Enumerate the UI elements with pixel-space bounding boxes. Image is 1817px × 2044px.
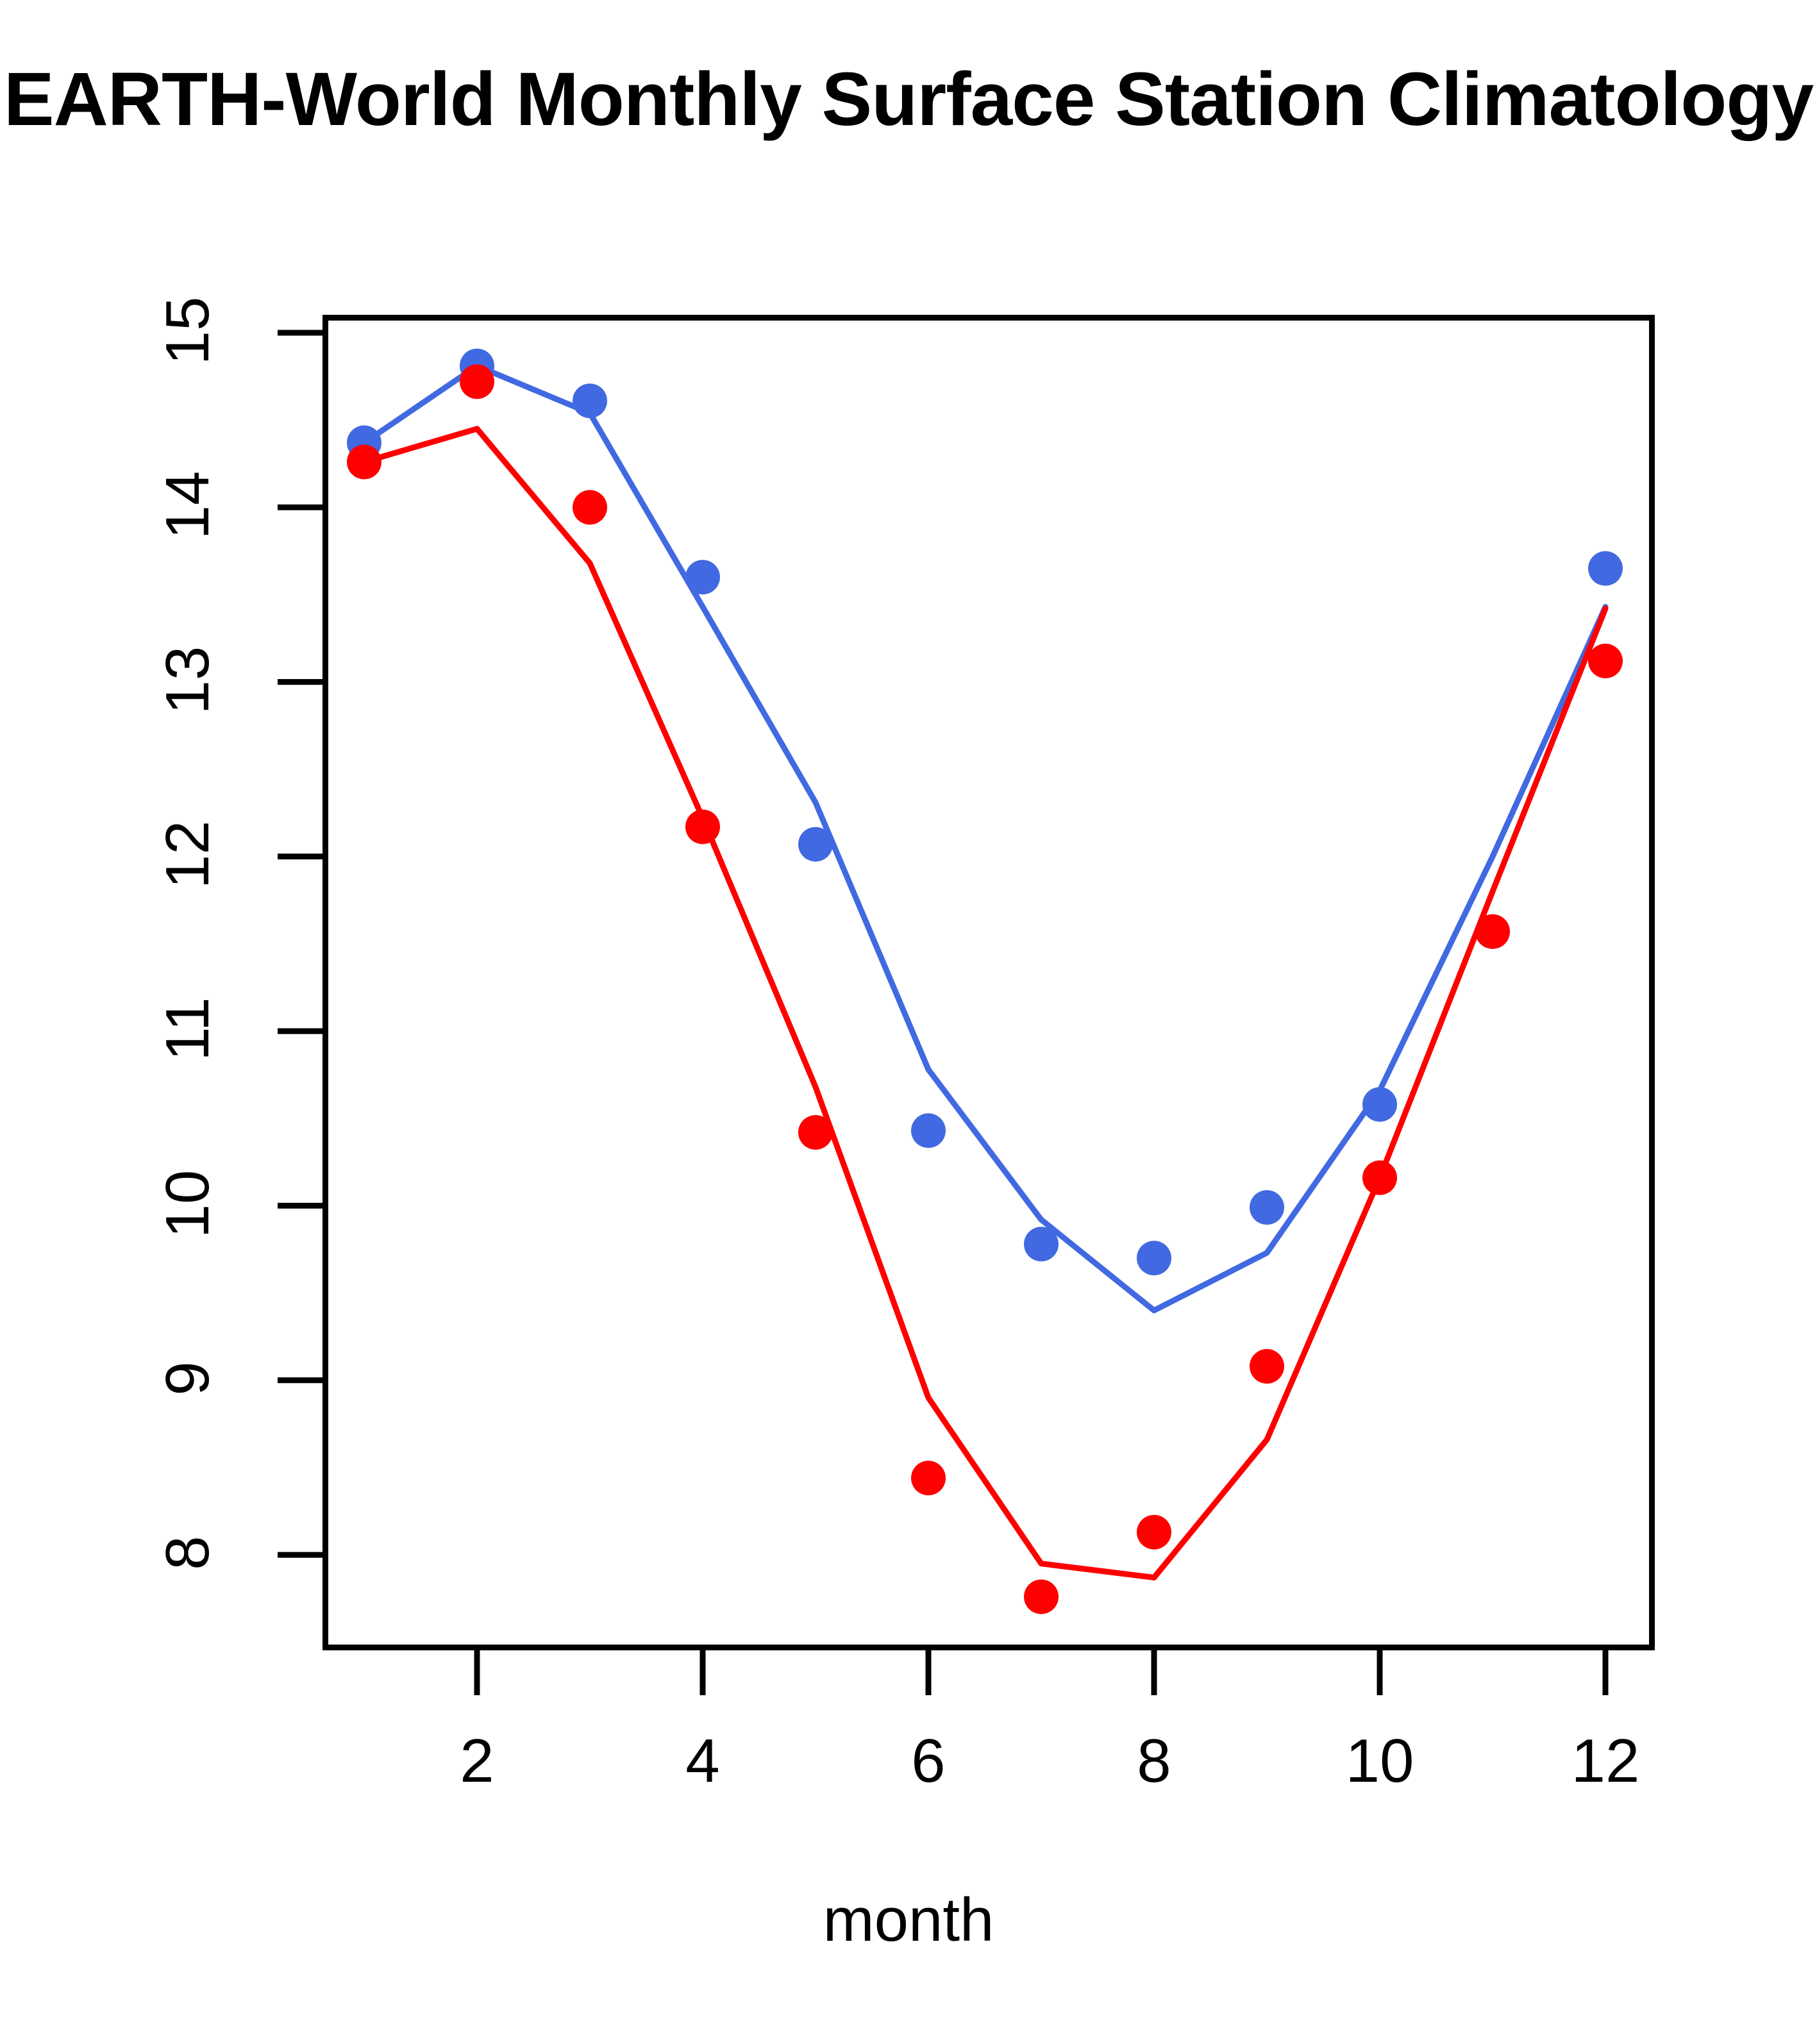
y-axis-ticks (278, 333, 322, 1555)
x-axis-title: month (0, 1885, 1817, 1956)
x-tick-label: 6 (845, 1726, 1012, 1797)
x-axis-ticks (477, 1650, 1605, 1695)
x-tick-label: 12 (1522, 1726, 1689, 1797)
y-tick-label: 12 (153, 784, 223, 925)
x-tick-label: 4 (619, 1726, 786, 1797)
x-tick-label: 10 (1296, 1726, 1463, 1797)
x-tick-label: 2 (394, 1726, 560, 1797)
y-tick-label: 9 (153, 1308, 223, 1449)
y-tick-label: 10 (153, 1134, 223, 1275)
y-tick-label: 13 (153, 610, 223, 751)
y-tick-label: 8 (153, 1482, 223, 1623)
chart-title: EARTH-World Monthly Surface Station Clim… (0, 62, 1817, 137)
y-tick-label: 11 (153, 959, 223, 1100)
y-tick-label: 15 (153, 260, 223, 401)
x-tick-label: 8 (1071, 1726, 1237, 1797)
chart-canvas: EARTH-World Monthly Surface Station Clim… (0, 0, 1817, 2044)
plot-area (322, 315, 1655, 1650)
y-tick-label: 14 (153, 435, 223, 576)
